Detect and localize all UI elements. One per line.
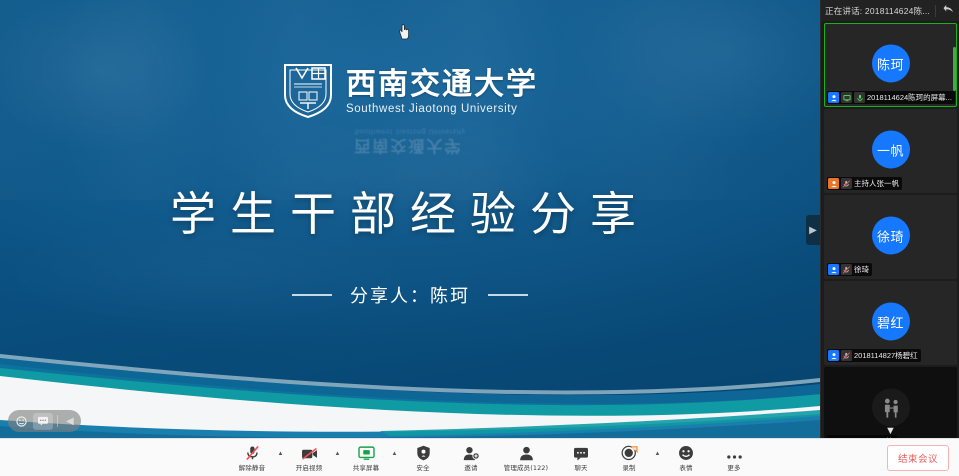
panel-scrollbar[interactable] <box>953 47 956 91</box>
avatar: 碧红 <box>872 302 910 340</box>
toolbar-label: 解除静音 <box>239 462 265 472</box>
record-icon <box>621 444 638 461</box>
mic-muted-icon <box>245 444 260 461</box>
share-options-caret[interactable]: ▲ <box>390 435 399 476</box>
toolbar-label: 录制 <box>622 462 635 472</box>
chevron-left-icon[interactable]: ◀ <box>62 416 78 427</box>
participant-nametag: 主持人张一帆 <box>827 177 902 190</box>
university-logo: 西南交通大学 Southwest Jiaotong University <box>0 62 820 120</box>
participant-tile[interactable]: 陈珂 2018114624陈珂的屏幕... <box>824 23 957 107</box>
toolbar-label: 开启视频 <box>296 462 322 472</box>
active-speaker-label: 正在讲话: 2018114624陈... <box>825 5 931 17</box>
avatar: 徐琦 <box>872 216 910 254</box>
participant-name: 徐琦 <box>854 264 869 275</box>
annotation-icon[interactable] <box>33 413 53 430</box>
toolbar-security-button[interactable]: 安全 <box>399 439 447 476</box>
mic-off-icon <box>841 264 852 275</box>
panel-header: 正在讲话: 2018114624陈... <box>821 0 959 21</box>
participant-tile[interactable]: 徐琦 徐琦 <box>824 195 957 279</box>
university-name-cn: 西南交通大学 <box>346 68 538 101</box>
chat-bubble-icon <box>573 444 589 461</box>
arrow-back-icon[interactable] <box>940 4 956 17</box>
university-name-en: Southwest Jiaotong University <box>346 103 538 115</box>
toolbar-video-button[interactable]: 开启视频 <box>285 439 333 476</box>
participant-tiles[interactable]: 陈珂 2018114624陈珂的屏幕... 一帆 <box>821 21 959 438</box>
participant-icon <box>828 350 839 361</box>
mic-off-icon <box>841 178 852 189</box>
presenter-name: 分享人：陈珂 <box>350 282 470 308</box>
participant-icon <box>828 92 839 103</box>
toolbar-divider <box>57 415 58 427</box>
avatar: 一帆 <box>872 130 910 168</box>
participant-nametag: 2018114827杨碧红 <box>827 349 921 362</box>
default-avatar-icon <box>872 388 910 426</box>
participant-name: 主持人张一帆 <box>854 178 899 189</box>
header-divider <box>935 5 936 17</box>
toolbar-items: 解除静音 ▲ 开启视频 ▲ 共享屏幕 ▲ 安全 <box>228 439 758 476</box>
participant-tile[interactable]: 碧红 2018114827杨碧红 <box>824 281 957 365</box>
mic-on-icon <box>854 92 865 103</box>
toolbar-invite-button[interactable]: 邀请 <box>447 439 495 476</box>
toolbar-share-button[interactable]: 共享屏幕 <box>342 439 390 476</box>
panel-collapse-handle[interactable]: ▶ <box>806 215 820 245</box>
shield-crest-icon <box>282 62 334 120</box>
rule-left <box>292 294 332 296</box>
smiley-icon <box>678 444 694 461</box>
participant-tile[interactable]: 一帆 主持人张一帆 <box>824 109 957 193</box>
slide-subtitle: 分享人：陈珂 <box>0 282 820 308</box>
toolbar-chat-button[interactable]: 聊天 <box>557 439 605 476</box>
screen-share-icon <box>841 92 852 103</box>
rule-right <box>488 294 528 296</box>
video-off-icon <box>301 444 318 461</box>
toolbar-label: 安全 <box>416 462 429 472</box>
slide-title: 学生干部经验分享 <box>0 178 820 244</box>
shield-icon <box>416 444 431 461</box>
meeting-toolbar: 解除静音 ▲ 开启视频 ▲ 共享屏幕 ▲ 安全 <box>0 438 959 476</box>
presentation-slide: 西南交通大学 Southwest Jiaotong University 西南交… <box>0 0 820 438</box>
avatar: 陈珂 <box>872 44 910 82</box>
toolbar-emoji-button[interactable]: 表情 <box>662 439 710 476</box>
mute-options-caret[interactable]: ▲ <box>276 435 285 476</box>
toolbar-label: 更多 <box>727 462 740 472</box>
toolbar-more-button[interactable]: 更多 <box>710 439 758 476</box>
toolbar-participants-button[interactable]: 管理成员(122) <box>495 439 557 476</box>
toolbar-label: 邀请 <box>464 462 477 472</box>
mic-off-icon <box>841 350 852 361</box>
chevron-down-icon[interactable]: ▼ <box>821 425 959 437</box>
host-icon <box>828 178 839 189</box>
shared-screen-stage[interactable]: 西南交通大学 Southwest Jiaotong University 西南交… <box>0 0 820 438</box>
participant-nametag: 2018114624陈珂的屏幕... <box>827 91 955 104</box>
slide-decoration-waves <box>0 328 820 438</box>
video-options-caret[interactable]: ▲ <box>333 435 342 476</box>
meeting-window: 西南交通大学 Southwest Jiaotong University 西南交… <box>0 0 959 476</box>
record-options-caret[interactable]: ▲ <box>653 435 662 476</box>
toolbar-label: 管理成员(122) <box>504 462 548 472</box>
hand-pointer-cursor <box>398 24 414 42</box>
participant-icon <box>828 264 839 275</box>
invite-user-icon <box>463 444 480 461</box>
emoji-icon[interactable] <box>11 413 31 430</box>
toolbar-label: 聊天 <box>574 462 587 472</box>
toolbar-label: 共享屏幕 <box>353 462 379 472</box>
more-dots-icon <box>726 444 743 461</box>
participant-panel: 正在讲话: 2018114624陈... 陈珂 <box>820 0 959 438</box>
toolbar-mute-button[interactable]: 解除静音 <box>228 439 276 476</box>
participant-name: 2018114624陈珂的屏幕... <box>867 92 952 103</box>
toolbar-record-button[interactable]: 录制 <box>605 439 653 476</box>
toolbar-label: 表情 <box>679 462 692 472</box>
slide-floating-toolbar[interactable]: ◀ <box>8 410 81 432</box>
screen-share-icon <box>358 444 375 461</box>
participant-name: 2018114827杨碧红 <box>854 350 918 361</box>
participants-icon <box>518 444 535 461</box>
participant-nametag: 徐琦 <box>827 263 872 276</box>
end-meeting-button[interactable]: 结束会议 <box>887 445 949 471</box>
